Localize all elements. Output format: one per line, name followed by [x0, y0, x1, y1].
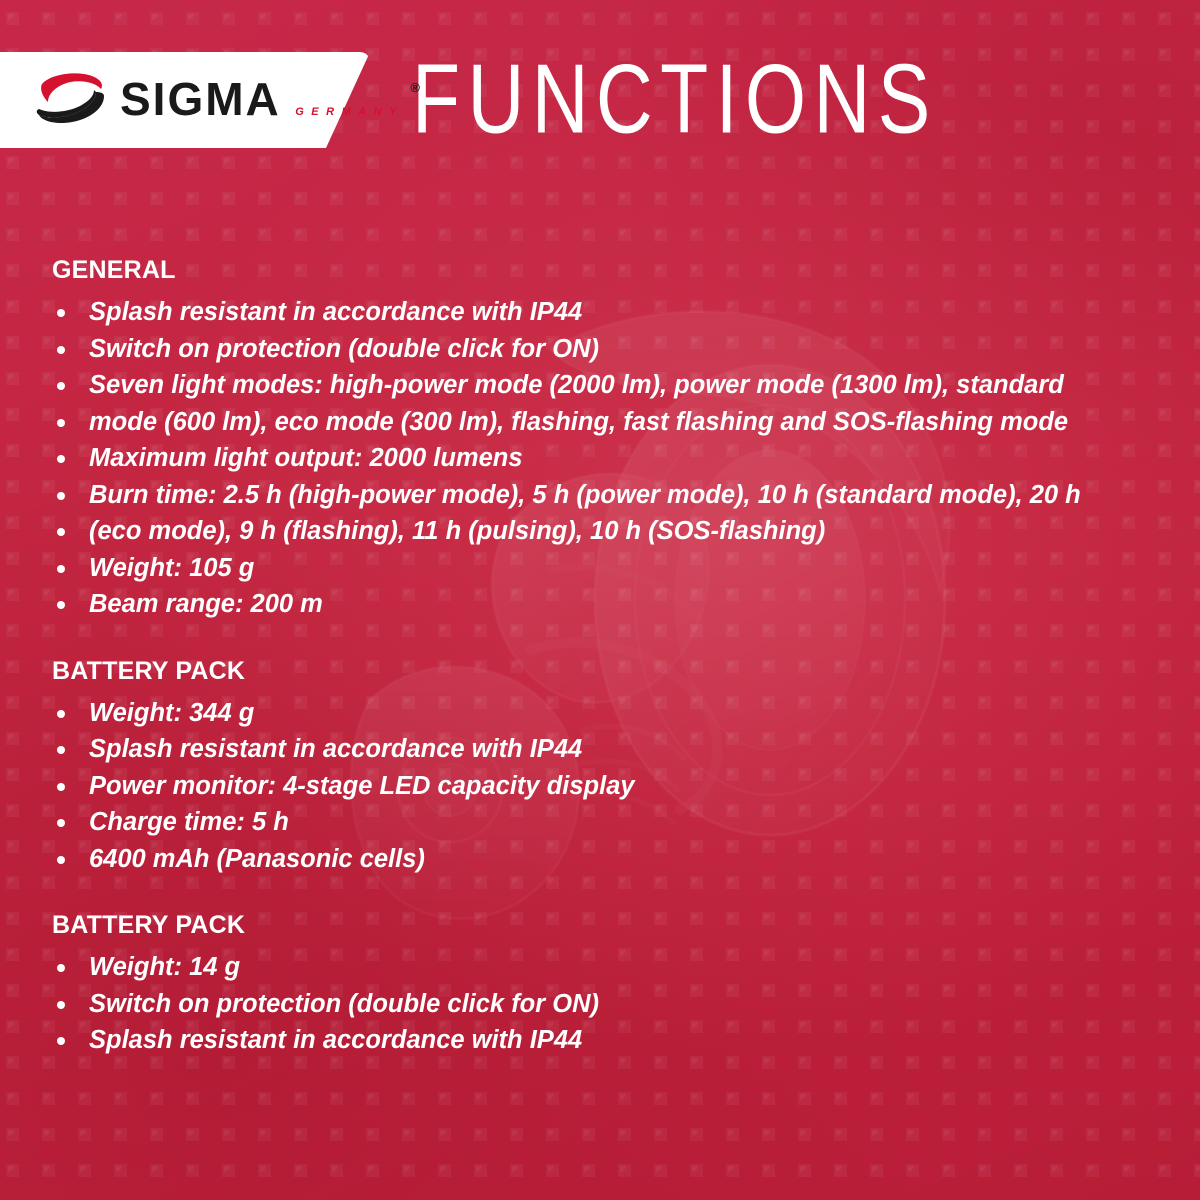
list-item: Weight: 344 g: [52, 695, 1172, 732]
bullet-list: Splash resistant in accordance with IP44…: [52, 294, 1172, 623]
section-general: GENERAL Splash resistant in accordance w…: [52, 256, 1172, 623]
sigma-country: GERMANY: [285, 106, 404, 118]
list-item: Seven light modes: high-power mode (2000…: [52, 367, 1172, 404]
section-heading: BATTERY PACK: [52, 657, 1172, 686]
list-item: Switch on protection (double click for O…: [52, 331, 1172, 368]
list-item: Burn time: 2.5 h (high-power mode), 5 h …: [52, 477, 1172, 514]
list-item: Charge time: 5 h: [52, 804, 1172, 841]
sigma-wordmark: SIGMA ® GERMANY: [120, 78, 404, 122]
bullet-list: Weight: 344 g Splash resistant in accord…: [52, 695, 1172, 878]
list-item: Maximum light output: 2000 lumens: [52, 440, 1172, 477]
section-battery-pack-2: BATTERY PACK Weight: 14 g Switch on prot…: [52, 911, 1172, 1059]
list-item: Splash resistant in accordance with IP44: [52, 294, 1172, 331]
bullet-list: Weight: 14 g Switch on protection (doubl…: [52, 949, 1172, 1059]
section-heading: BATTERY PACK: [52, 911, 1172, 940]
list-item: mode (600 lm), eco mode (300 lm), flashi…: [52, 404, 1172, 441]
section-battery-pack-1: BATTERY PACK Weight: 344 g Splash resist…: [52, 657, 1172, 878]
page-title: FUNCTIONS: [412, 49, 938, 151]
list-item: Power monitor: 4-stage LED capacity disp…: [52, 768, 1172, 805]
list-item: Weight: 105 g: [52, 550, 1172, 587]
list-item: Splash resistant in accordance with IP44: [52, 1022, 1172, 1059]
sigma-logo: SIGMA ® GERMANY: [30, 52, 370, 148]
sigma-name: SIGMA: [120, 73, 281, 125]
functions-spec-page: SIGMA ® GERMANY FUNCTIONS GENERAL Splash…: [0, 0, 1200, 1200]
list-item: Switch on protection (double click for O…: [52, 986, 1172, 1023]
list-item: Weight: 14 g: [52, 949, 1172, 986]
registered-mark-icon: ®: [410, 80, 420, 95]
section-heading: GENERAL: [52, 256, 1172, 285]
list-item: 6400 mAh (Panasonic cells): [52, 841, 1172, 878]
functions-content: GENERAL Splash resistant in accordance w…: [52, 256, 1172, 1059]
list-item: Splash resistant in accordance with IP44: [52, 731, 1172, 768]
list-item: Beam range: 200 m: [52, 586, 1172, 623]
sigma-swoosh-icon: [34, 70, 112, 130]
list-item: (eco mode), 9 h (flashing), 11 h (pulsin…: [52, 513, 1172, 550]
